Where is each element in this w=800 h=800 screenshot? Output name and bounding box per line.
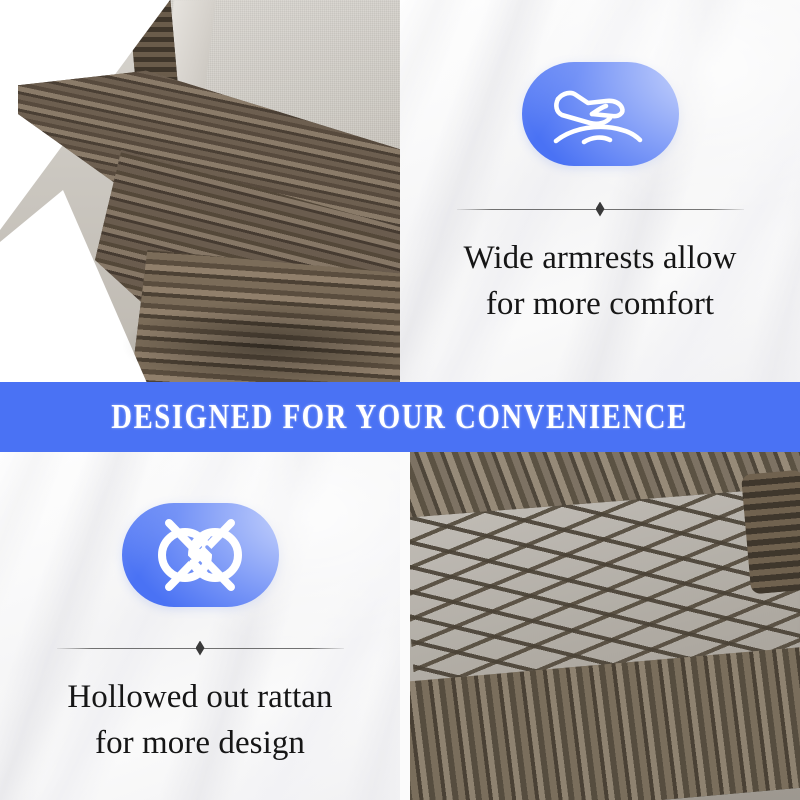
woven-knot-icon-pill (122, 503, 279, 607)
feature-caption: Wide armrests allow for more comfort (463, 236, 736, 327)
photo-left-edge (400, 452, 410, 800)
feature-hollowed-rattan: Hollowed out rattan for more design (0, 452, 400, 800)
feature-panel-armrest: Wide armrests allow for more comfort (400, 0, 800, 384)
divider-diamond-icon (596, 202, 605, 217)
banner: DESIGNED FOR YOUR CONVENIENCE (0, 382, 800, 452)
feature-panel-rattan: Hollowed out rattan for more design (0, 452, 400, 800)
caption-line-1: Hollowed out rattan (67, 675, 332, 721)
armrest-shadow (120, 300, 400, 384)
divider-diamond-icon (196, 641, 205, 656)
photo-panel-rattan (400, 452, 800, 800)
feature-divider (457, 202, 744, 216)
feature-caption: Hollowed out rattan for more design (67, 675, 332, 766)
corner-post (741, 470, 800, 595)
photo-panel-armrest (0, 0, 400, 384)
rattan-weave-closeup-image (400, 452, 800, 800)
woven-knot-icon (147, 513, 253, 597)
armrest-closeup-image (0, 0, 400, 384)
banner-title: DESIGNED FOR YOUR CONVENIENCE (112, 397, 689, 437)
feature-wide-armrests: Wide armrests allow for more comfort (400, 0, 800, 384)
open-hand-icon-pill (522, 62, 679, 166)
caption-line-2: for more design (67, 721, 332, 767)
caption-line-2: for more comfort (463, 282, 736, 328)
open-hand-icon (548, 81, 652, 147)
infographic-canvas: Wide armrests allow for more comfort DES… (0, 0, 800, 800)
feature-divider (57, 641, 344, 655)
caption-line-1: Wide armrests allow (463, 236, 736, 282)
